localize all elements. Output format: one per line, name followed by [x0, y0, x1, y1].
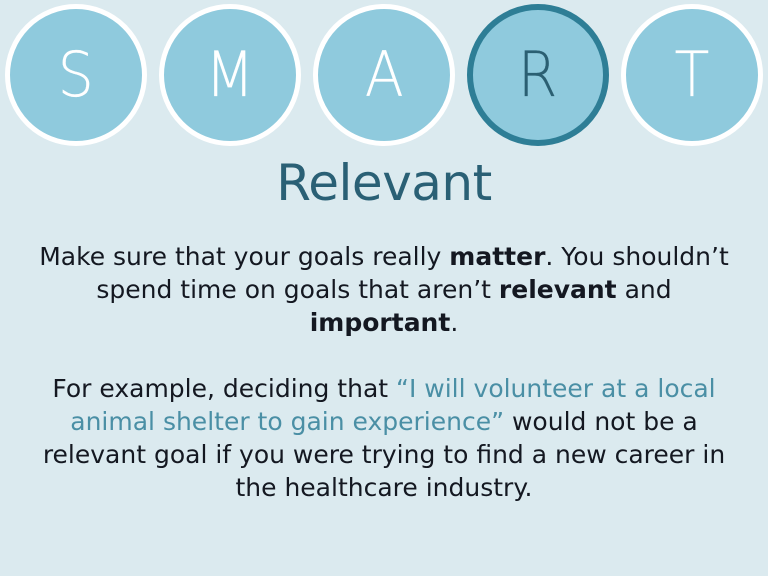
smart-acronym-row: S M A R T: [0, 5, 768, 145]
slide-root: S M A R T Relevant Make sure that your g…: [0, 0, 768, 576]
p2-seg1: For example, deciding that: [52, 374, 396, 403]
p1-seg4: .: [450, 308, 458, 337]
p1-seg3: and: [617, 275, 672, 304]
smart-circle-r[interactable]: R: [461, 5, 615, 145]
p1-bold-matter: matter: [449, 242, 545, 271]
smart-circle-s[interactable]: S: [0, 5, 153, 145]
smart-letter-label-r: R: [518, 44, 558, 106]
page-title: Relevant: [0, 155, 768, 213]
p1-seg1: Make sure that your goals really: [39, 242, 449, 271]
paragraph-2: For example, deciding that “I will volun…: [36, 372, 732, 504]
smart-letter-label-t: T: [675, 44, 710, 106]
slide-body: Make sure that your goals really matter.…: [36, 240, 732, 504]
smart-circle-t[interactable]: T: [615, 5, 768, 145]
smart-letter-label-m: M: [205, 44, 254, 106]
p1-bold-relevant: relevant: [499, 275, 617, 304]
smart-circle-a[interactable]: A: [307, 5, 461, 145]
p1-bold-important: important: [310, 308, 451, 337]
smart-circle-m[interactable]: M: [153, 5, 307, 145]
paragraph-1: Make sure that your goals really matter.…: [36, 240, 732, 339]
smart-letter-label-a: A: [364, 44, 403, 106]
smart-letter-label-s: S: [58, 44, 94, 106]
